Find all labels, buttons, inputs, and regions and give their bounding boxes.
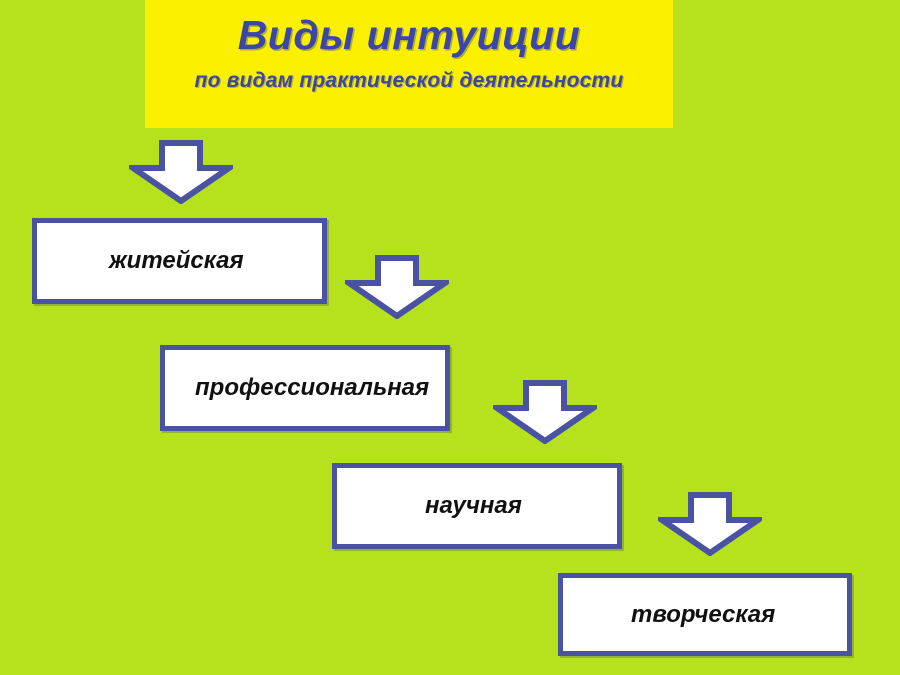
node-label: творческая: [563, 601, 775, 629]
arrow-down-icon: [658, 492, 762, 556]
slide-canvas: Виды интуиции по видам практической деят…: [0, 0, 900, 675]
node-box-tvorcheskaya[interactable]: творческая: [558, 573, 852, 656]
page-title: Виды интуиции: [238, 14, 581, 57]
arrow-down-icon: [493, 380, 597, 444]
arrow-down-icon: [129, 140, 233, 204]
node-box-nauchnaya[interactable]: научная: [332, 463, 622, 549]
node-label: профессиональная: [165, 374, 429, 402]
node-label: научная: [337, 492, 522, 520]
node-box-professionalnaya[interactable]: профессиональная: [160, 345, 450, 431]
page-subtitle: по видам практической деятельности: [195, 69, 624, 93]
node-box-zhiteyskaya[interactable]: житейская: [32, 218, 327, 304]
arrow-down-icon: [345, 255, 449, 319]
node-label: житейская: [37, 247, 244, 275]
title-banner: Виды интуиции по видам практической деят…: [145, 0, 673, 128]
